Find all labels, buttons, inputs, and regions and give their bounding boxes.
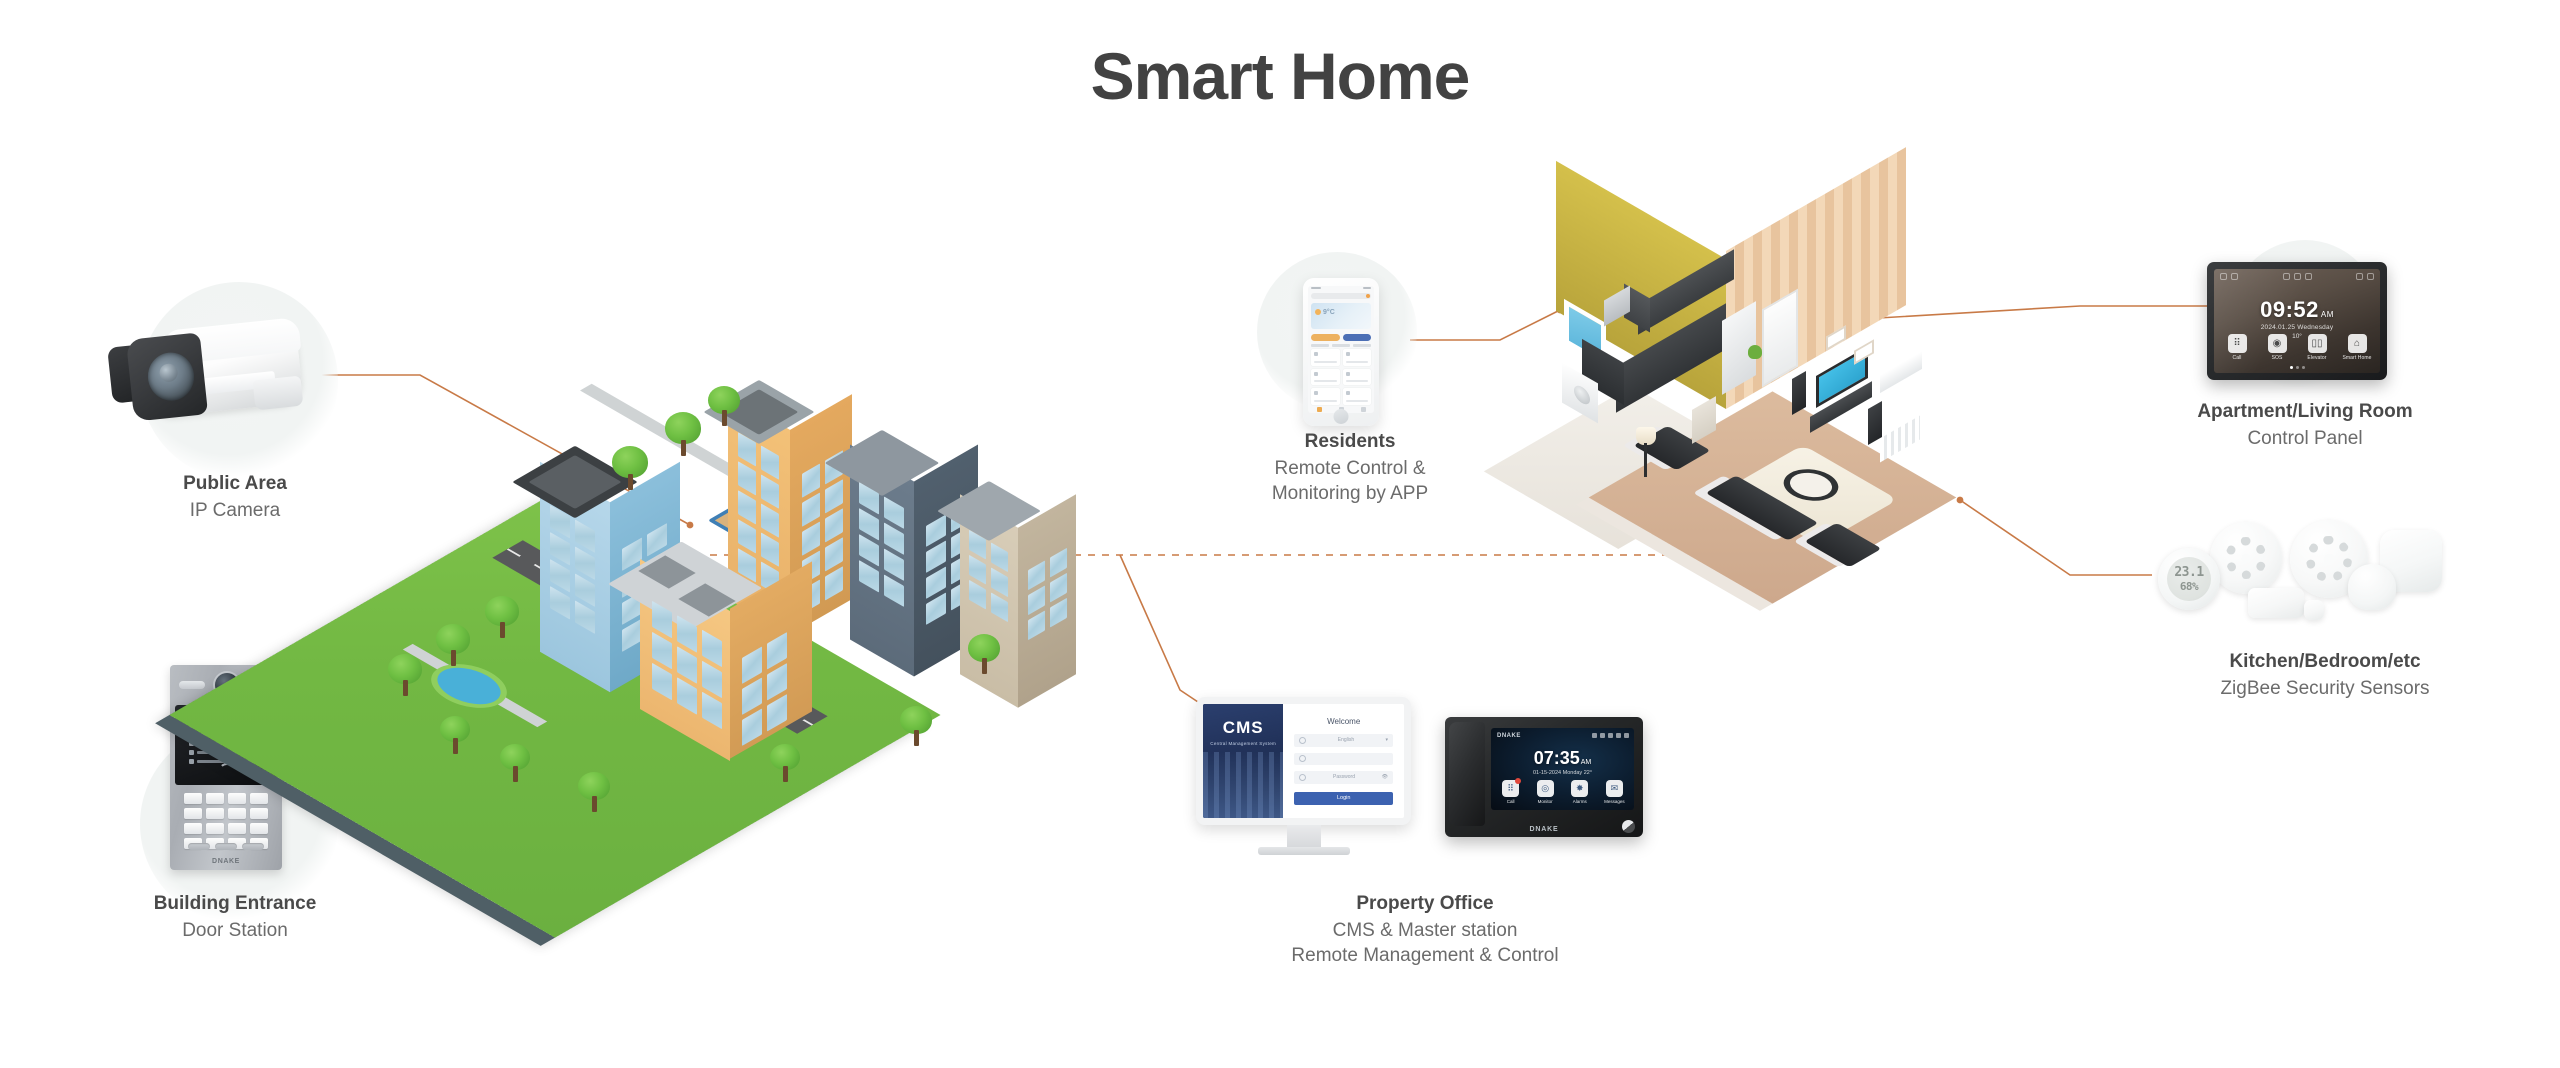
floor-lamp-pole [1644,443,1647,477]
control-panel-device[interactable]: 09:52AM 2024.01.25 Wednesday 10° ⠿ Call … [2207,262,2387,380]
notification-badge [1515,778,1521,784]
door-contact-sensor [2248,588,2304,618]
master-station-statusbar [1592,733,1629,738]
tree [485,592,519,638]
app-search-bar[interactable] [1311,293,1371,299]
app-label: Call [1496,799,1526,804]
cms-logo-subtitle: Central Management System [1210,741,1276,746]
app-messages[interactable]: ✉ Messages [1599,780,1629,804]
power-icon [1624,733,1629,738]
caption-sensors: Kitchen/Bedroom/etc ZigBee Security Sens… [2130,648,2520,701]
app-weather-card: 9°C [1311,303,1371,329]
master-station-handset[interactable] [1449,722,1485,826]
cms-password-input[interactable]: Password 👁 [1294,771,1393,784]
tree [500,740,530,782]
caption-control-panel: Apartment/Living Room Control Panel [2110,398,2500,451]
caption-subtitle-line2: Monitoring by APP [1165,481,1535,507]
tree [388,650,422,696]
caption-title: Property Office [1190,890,1660,918]
app-tabs[interactable] [1311,344,1371,347]
control-panel-apps[interactable]: ⠿ Call ◉ SOS ▯▯ Elevator ⌂ Smart Home [2214,334,2380,361]
cms-login-button[interactable]: Login [1294,792,1393,805]
speaker-left [1792,371,1806,415]
caption-subtitle-line2: Remote Management & Control [1190,943,1660,969]
tree [708,382,740,426]
elevator-icon: ▯▯ [2308,334,2327,353]
brand-label: DNAKE [170,858,282,865]
master-station-clock: 07:35AM 01-15-2024 Monday 22° [1491,748,1634,776]
caption-title: Apartment/Living Room [2110,398,2500,426]
control-panel-statusbar [2220,273,2374,280]
caption-subtitle: ZigBee Security Sensors [2130,676,2520,702]
app-label: Alarms [1565,799,1595,804]
apartment-cutaway-illustration [1520,215,2040,635]
sensor-temperature: 23.1 [2174,566,2203,579]
sensor-humidity: 68% [2180,581,2198,592]
caption-title: Residents [1165,428,1535,456]
smoke-detector-1 [2210,522,2282,594]
app-call[interactable]: ⠿ Call [1496,780,1526,804]
volume-knob[interactable] [1622,820,1635,833]
phone-home-button[interactable] [1334,409,1349,424]
zigbee-sensors-group: 23.1 68% [2152,508,2447,630]
keypad-icon: ⠿ [2228,334,2247,353]
power-icon [2367,273,2374,280]
clock-date: 2024.01.25 Wednesday [2214,324,2380,331]
app-label: Smart Home [2340,355,2374,361]
app-alarms[interactable]: ✸ Alarms [1565,780,1595,804]
signal-icon [2231,273,2238,280]
clock-time: 07:35 [1534,748,1580,768]
brand-label-bottom: DNAKE [1445,826,1643,833]
tree [770,740,800,782]
camera-icon: ◎ [1537,780,1554,797]
tree [665,408,701,456]
app-label: SOS [2260,355,2294,361]
caption-residents: Residents Remote Control & Monitoring by… [1165,428,1535,507]
smart-home-diagram: Smart Home [0,0,2560,1068]
app-smart-home[interactable]: ⌂ Smart Home [2340,334,2374,361]
cms-login-form[interactable]: Welcome English ▾ Password 👁 Login [1283,704,1404,818]
smartphone-icon: 9°C [1303,278,1379,426]
radiator [1880,415,1920,462]
caption-title: Kitchen/Bedroom/etc [2130,648,2520,676]
isometric-city-illustration [340,320,1200,900]
language-value: English [1310,737,1381,743]
app-action-buttons[interactable] [1311,334,1371,341]
gear-icon [1616,733,1621,738]
home-icon [2283,273,2290,280]
motion-sensor-dome [2348,564,2396,610]
temperature-humidity-sensor: 23.1 68% [2158,548,2220,610]
page-title: Smart Home [0,38,2560,114]
tree [900,702,932,746]
caption-subtitle: Door Station [60,918,410,944]
weather-temperature: 22° [1584,770,1592,776]
photo-icon [2356,273,2363,280]
caption-subtitle-line1: CMS & Master station [1190,918,1660,944]
tree [578,768,610,812]
chevron-down-icon: ▾ [1385,737,1388,743]
sos-icon: ◉ [2268,334,2287,353]
moon-icon [2294,273,2301,280]
cms-username-input[interactable] [1294,753,1393,766]
mute-icon [1608,733,1613,738]
envelope-icon: ✉ [1606,780,1623,797]
home-lock-icon: ⌂ [2348,334,2367,353]
clock-date: 01-15-2024 Monday [1533,770,1582,776]
speaker-grille [188,843,264,850]
password-placeholder: Password [1310,774,1377,780]
phone-screen: 9°C [1308,286,1374,413]
app-label: Elevator [2300,355,2334,361]
page-indicator[interactable] [2214,366,2380,369]
master-station-apps[interactable]: ⠿ Call ◎ Monitor ✸ Alarms ✉ Messages [1491,780,1634,804]
app-label: Call [2220,355,2254,361]
app-monitor[interactable]: ◎ Monitor [1530,780,1560,804]
monitor-stand-base [1258,847,1350,855]
master-station-device[interactable]: DNAKE 07:35AM 01-15-2024 Monday 22° ⠿ [1445,717,1643,837]
alarm-icon: ✸ [1571,780,1588,797]
app-sos[interactable]: ◉ SOS [2260,334,2294,361]
nfc-icon [219,763,235,777]
cms-screen[interactable]: CMS Central Management System Welcome En… [1196,697,1411,825]
wifi-icon [2220,273,2227,280]
clock-meridiem: AM [2321,310,2334,319]
sensor-lcd: 23.1 68% [2167,557,2212,602]
wifi-icon [1592,733,1597,738]
control-panel-screen[interactable]: 09:52AM 2024.01.25 Wednesday 10° ⠿ Call … [2214,269,2380,373]
cms-monitor[interactable]: CMS Central Management System Welcome En… [1196,697,1411,857]
eye-icon[interactable]: 👁 [1382,774,1388,780]
globe-icon [1299,737,1306,744]
ip-camera-icon [104,322,309,434]
clock-time: 09:52 [2260,297,2319,322]
cms-language-select[interactable]: English ▾ [1294,734,1393,747]
app-call[interactable]: ⠿ Call [2220,334,2254,361]
lock-icon [1299,774,1306,781]
tree [440,712,470,754]
caption-subtitle-line1: Remote Control & [1165,456,1535,482]
door-station-keypad[interactable] [184,793,268,849]
potted-plant [1748,345,1762,359]
door-contact-magnet [2304,600,2324,620]
clock-meridiem: AM [1581,759,1592,766]
gear-icon [2305,273,2312,280]
air-conditioner [1880,351,1922,393]
monitor-stand-neck [1287,825,1321,847]
caption-subtitle: Control Panel [2110,426,2500,452]
caption-property-office: Property Office CMS & Master station Rem… [1190,890,1660,969]
tree [968,630,1000,674]
master-station-screen[interactable]: DNAKE 07:35AM 01-15-2024 Monday 22° ⠿ [1491,728,1634,810]
app-elevator[interactable]: ▯▯ Elevator [2300,334,2334,361]
cms-logo: CMS [1223,718,1264,738]
network-icon [1600,733,1605,738]
cms-branding-panel: CMS Central Management System [1203,704,1283,818]
user-icon [1299,755,1306,762]
app-label: Monitor [1530,799,1560,804]
tree [612,442,648,490]
app-label: Messages [1599,799,1629,804]
cms-welcome-text: Welcome [1327,717,1360,726]
app-device-tiles[interactable] [1311,349,1371,405]
brand-label-top: DNAKE [1497,733,1521,739]
keypad-icon: ⠿ [1502,780,1519,797]
tree [436,620,470,666]
